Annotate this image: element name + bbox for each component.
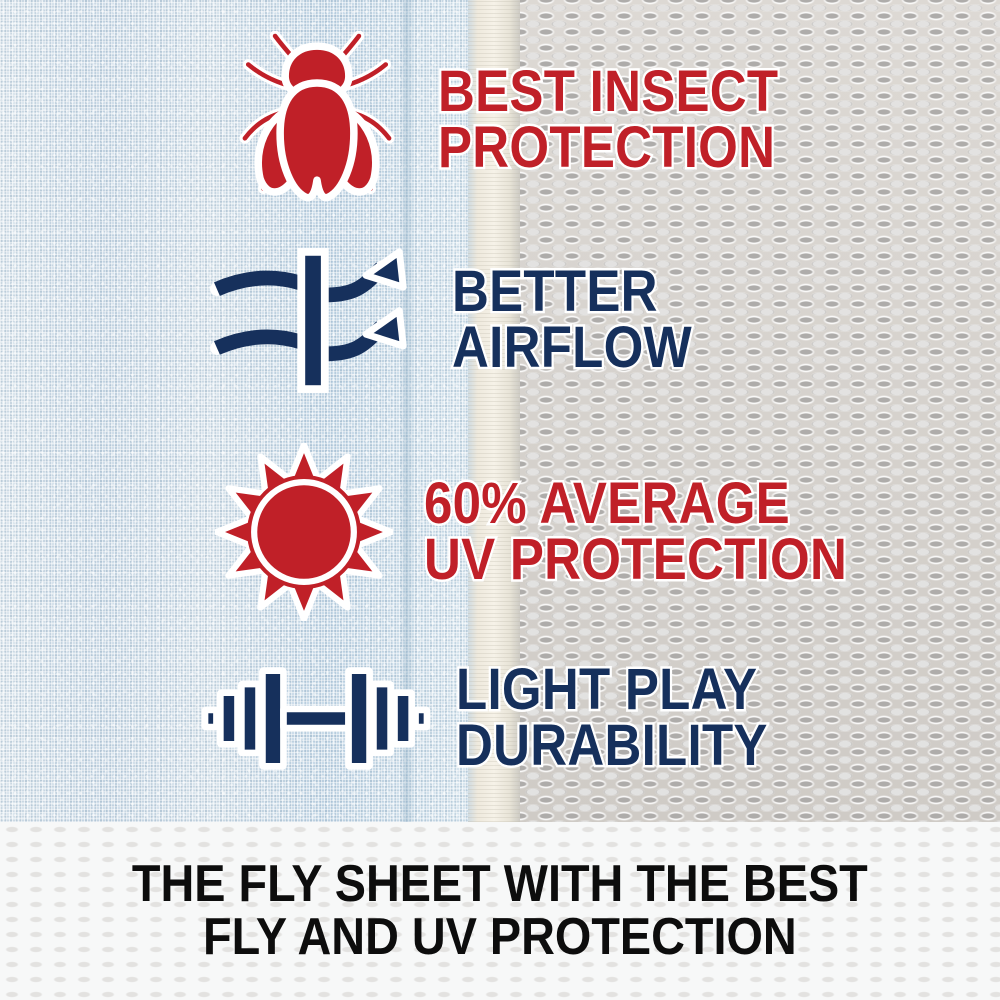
sun-icon — [214, 442, 394, 622]
feature-text-uv-protection: 60% AVERAGE UV PROTECTION — [424, 476, 905, 587]
feature-row-better-airflow: BETTER AIRFLOW — [206, 244, 725, 396]
feature-line: UV PROTECTION — [424, 532, 847, 588]
feature-text-insect-protection: BEST INSECT PROTECTION — [438, 62, 825, 175]
feature-line: PROTECTION — [438, 120, 778, 176]
feature-line: 60% AVERAGE — [424, 476, 847, 532]
tagline-line-2: FLY AND UV PROTECTION — [203, 911, 797, 964]
feature-line: LIGHT PLAY — [456, 662, 768, 718]
feature-line: AIRFLOW — [452, 320, 692, 376]
feature-text-better-airflow: BETTER AIRFLOW — [452, 264, 725, 375]
bottom-tagline-banner: THE FLY SHEET WITH THE BEST FLY AND UV P… — [0, 822, 1000, 1000]
feature-row-uv-protection: 60% AVERAGE UV PROTECTION — [214, 442, 905, 622]
feature-row-insect-protection: BEST INSECT PROTECTION — [232, 30, 825, 208]
fly-icon — [232, 30, 402, 208]
dumbbell-icon — [200, 662, 432, 774]
feature-line: BEST INSECT — [438, 64, 778, 120]
tagline-line-1: THE FLY SHEET WITH THE BEST — [132, 858, 868, 911]
feature-row-durability: LIGHT PLAY DURABILITY — [200, 662, 810, 774]
airflow-icon — [206, 244, 424, 396]
feature-line: BETTER — [452, 264, 692, 320]
feature-line: DURABILITY — [456, 718, 768, 774]
product-infographic: BEST INSECT PROTECTION — [0, 0, 1000, 1000]
feature-list: BEST INSECT PROTECTION — [0, 0, 1000, 822]
feature-text-durability: LIGHT PLAY DURABILITY — [456, 662, 810, 773]
